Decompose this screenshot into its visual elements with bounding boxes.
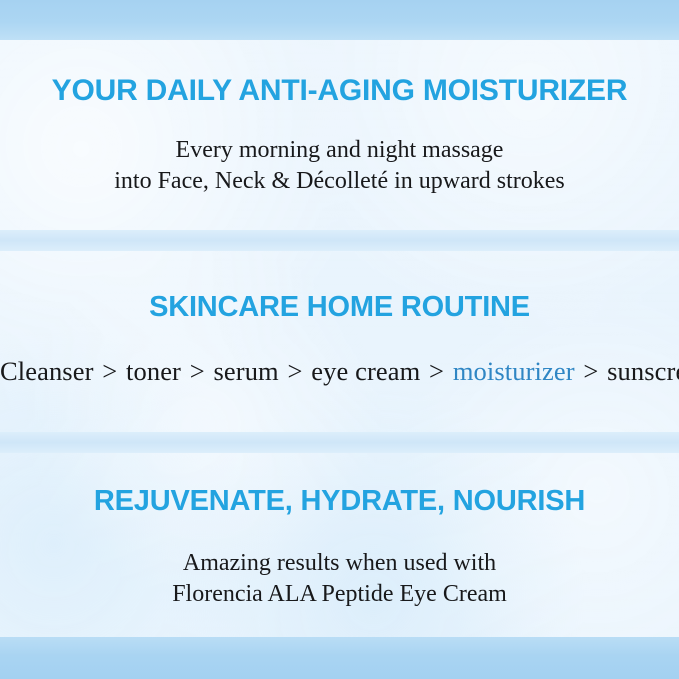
routine-separator-4: > xyxy=(427,356,446,386)
routine-step-eye-cream: eye cream xyxy=(311,356,420,386)
routine-separator-1: > xyxy=(100,356,119,386)
section-1-body-line-2: into Face, Neck & Décolleté in upward st… xyxy=(114,168,565,194)
routine-separator-3: > xyxy=(286,356,305,386)
routine-step-sunscreen: sunscreen xyxy=(607,356,679,386)
routine-step-cleanser: Cleanser xyxy=(0,356,94,386)
section-1-body: Every morning and night massage into Fac… xyxy=(0,135,679,197)
routine-separator-2: > xyxy=(188,356,207,386)
routine-step-toner: toner xyxy=(126,356,181,386)
section-skincare-routine: SKINCARE HOME ROUTINE Cleanser > toner >… xyxy=(0,290,679,388)
product-infographic: YOUR DAILY ANTI-AGING MOISTURIZER Every … xyxy=(0,0,679,679)
skincare-routine-steps: Cleanser > toner > serum > eye cream > m… xyxy=(0,354,679,388)
routine-separator-5: > xyxy=(581,356,600,386)
section-2-heading: SKINCARE HOME ROUTINE xyxy=(0,290,679,324)
sections-container: YOUR DAILY ANTI-AGING MOISTURIZER Every … xyxy=(0,0,679,679)
section-daily-moisturizer: YOUR DAILY ANTI-AGING MOISTURIZER Every … xyxy=(0,74,679,197)
section-3-heading: REJUVENATE, HYDRATE, NOURISH xyxy=(0,484,679,518)
routine-step-serum: serum xyxy=(214,356,279,386)
section-1-heading: YOUR DAILY ANTI-AGING MOISTURIZER xyxy=(0,74,679,108)
section-1-body-line-1: Every morning and night massage xyxy=(176,137,504,163)
section-3-body: Amazing results when used with Florencia… xyxy=(0,548,679,610)
routine-step-moisturizer: moisturizer xyxy=(453,356,575,386)
section-3-body-line-1: Amazing results when used with xyxy=(183,550,496,576)
section-rejuvenate: REJUVENATE, HYDRATE, NOURISH Amazing res… xyxy=(0,484,679,610)
section-3-body-line-2: Florencia ALA Peptide Eye Cream xyxy=(172,581,507,607)
